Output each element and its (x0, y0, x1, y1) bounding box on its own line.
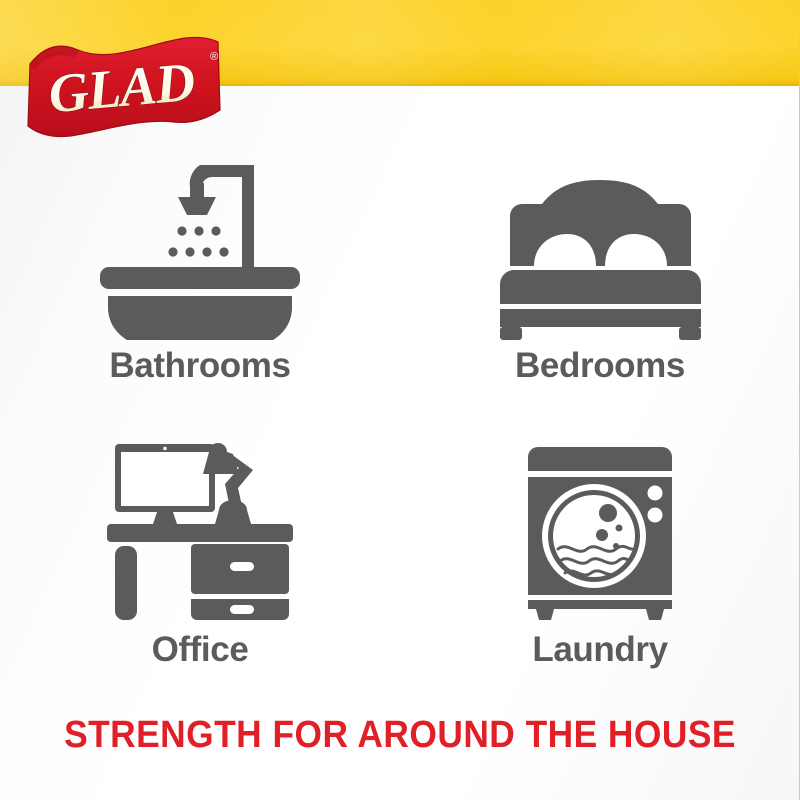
glad-wordmark: GLAD (46, 51, 197, 124)
cell-label-bathrooms: Bathrooms (109, 348, 290, 383)
footer-headline: STRENGTH FOR AROUND THE HOUSE (28, 716, 772, 754)
registered-trademark-icon: ® (210, 51, 218, 63)
cell-label-laundry: Laundry (532, 632, 667, 667)
cell-label-bedrooms: Bedrooms (515, 348, 685, 383)
desk-monitor-lamp-icon (0, 420, 400, 620)
glad-logo: GLAD ® (26, 36, 236, 141)
room-icon-grid: Bathrooms (0, 140, 800, 700)
bathtub-shower-icon (0, 140, 400, 340)
washing-machine-icon (400, 420, 800, 620)
grid-cell-laundry: Laundry (400, 420, 800, 700)
grid-cell-bedrooms: Bedrooms (400, 140, 800, 420)
grid-cell-office: Office (0, 420, 400, 700)
bed-icon (400, 140, 800, 340)
grid-cell-bathrooms: Bathrooms (0, 140, 400, 420)
cell-label-office: Office (152, 632, 249, 667)
promo-card: GLAD ® (0, 0, 800, 800)
